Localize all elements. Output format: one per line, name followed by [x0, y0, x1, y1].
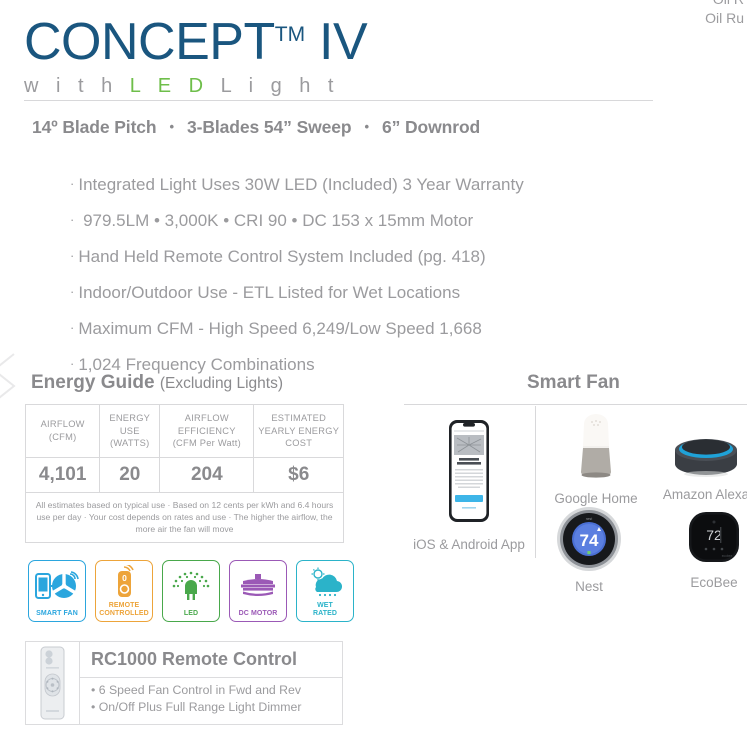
spec-text: Indoor/Outdoor Use - ETL Listed for Wet …	[78, 283, 460, 302]
dc-motor-icon	[230, 561, 286, 610]
nest-temperature: 74	[580, 531, 599, 550]
energy-guide-subtitle: (Excluding Lights)	[160, 375, 283, 392]
device-ecobee: 72 ecobee EcoBee	[679, 508, 747, 590]
ecobee-temperature: 72	[706, 527, 722, 543]
smart-fan-title: Smart Fan	[527, 372, 620, 394]
smart-fan-icon	[29, 561, 85, 610]
list-item: ·Maximum CFM - High Speed 6,249/Low Spee…	[70, 310, 710, 346]
device-caption: Nest	[552, 579, 626, 594]
value-yearly-cost: $6	[254, 457, 344, 492]
page-title: CONCEPTTM IV	[24, 6, 654, 71]
subtitle-pre: w i t h	[24, 75, 130, 97]
device-amazon-alexa: Amazon Alexa	[660, 432, 747, 502]
title-suffix: IV	[319, 13, 367, 71]
spec-text: Maximum CFM - High Speed 6,249/Low Speed…	[78, 319, 481, 338]
badge-led[interactable]: LED	[162, 560, 220, 622]
badge-label: DC MOTOR	[239, 610, 278, 618]
svg-text:nest: nest	[586, 517, 592, 521]
remote-info: RC1000 Remote Control • 6 Speed Fan Cont…	[80, 642, 342, 724]
badge-remote-controlled[interactable]: 0 REMOTE CONTROLLED	[95, 560, 153, 622]
badge-dc-motor[interactable]: DC MOTOR	[229, 560, 287, 622]
smartphone-app-icon	[440, 418, 498, 524]
table-note-row: All estimates based on typical use · Bas…	[26, 492, 344, 542]
spec-text: Hand Held Remote Control System Included…	[78, 247, 485, 266]
badge-smart-fan[interactable]: SMART FAN	[28, 560, 86, 622]
device-caption: EcoBee	[679, 575, 747, 590]
google-home-icon	[564, 412, 628, 484]
badge-wet-rated[interactable]: WET RATED	[296, 560, 354, 622]
badge-label: REMOTE CONTROLLED	[99, 602, 149, 618]
handheld-remote-icon	[37, 646, 68, 720]
spec-separator: •	[352, 119, 382, 134]
column-header-energy-use: ENERGY USE (WATTS)	[100, 405, 160, 458]
badge-label: SMART FAN	[36, 610, 78, 618]
energy-guide-table: AIRFLOW (CFM) ENERGY USE (WATTS) AIRFLOW…	[25, 404, 344, 543]
spec-sweep: 3-Blades 54” Sweep	[187, 117, 352, 137]
list-item: • On/Off Plus Full Range Light Dimmer	[91, 699, 342, 716]
table-row: 4,101 20 204 $6	[26, 457, 344, 492]
badge-label: WET RATED	[313, 602, 337, 618]
list-item: ·Hand Held Remote Control System Include…	[70, 238, 710, 274]
subtitle-post: L i g h t	[209, 75, 339, 97]
ecobee-thermostat-icon: 72 ecobee	[683, 508, 745, 568]
device-caption: Google Home	[548, 491, 644, 506]
column-header-airflow-efficiency: AIRFLOW EFFICIENCY (CFM Per Watt)	[160, 405, 254, 458]
smart-fan-divider	[404, 404, 747, 405]
finish-item: Oil R	[705, 0, 744, 9]
title-main: CONCEPT	[24, 13, 275, 71]
list-item: ·Indoor/Outdoor Use - ETL Listed for Wet…	[70, 274, 710, 310]
spec-bullet-list: ·Integrated Light Uses 30W LED (Included…	[30, 166, 710, 382]
device-google-home: Google Home	[548, 412, 644, 506]
energy-guide-heading: Energy Guide	[31, 372, 155, 393]
list-item: ·Integrated Light Uses 30W LED (Included…	[70, 166, 710, 202]
device-nest: 74 nest Nest	[552, 506, 626, 594]
table-header-row: AIRFLOW (CFM) ENERGY USE (WATTS) AIRFLOW…	[26, 405, 344, 458]
device-caption: Amazon Alexa	[660, 487, 747, 502]
remote-control-icon: 0	[96, 561, 152, 602]
feature-badge-row: SMART FAN 0 REMOTE CONTROLLED	[28, 560, 354, 622]
svg-text:0: 0	[122, 573, 127, 583]
spec-text: Integrated Light Uses 30W LED (Included)…	[78, 175, 523, 194]
column-header-airflow: AIRFLOW (CFM)	[26, 405, 100, 458]
chevron-left-icon	[0, 352, 22, 408]
app-column: iOS & Android App	[410, 418, 528, 552]
title-block: CONCEPTTM IV w i t h L E D L i g h t	[24, 6, 654, 98]
led-bulb-icon	[163, 561, 219, 610]
nest-thermostat-icon: 74 nest	[555, 506, 623, 572]
finish-item: Oil Ru	[705, 9, 744, 28]
energy-guide-title: Energy Guide (Excluding Lights)	[31, 372, 283, 394]
spec-downrod: 6” Downrod	[382, 117, 480, 137]
list-item: • 6 Speed Fan Control in Fwd and Rev	[91, 682, 342, 699]
value-energy-use: 20	[100, 457, 160, 492]
finish-list: Oil R Oil Ru	[705, 0, 744, 28]
spec-text: 979.5LM • 3,000K • CRI 90 • DC 153 x 15m…	[78, 211, 473, 230]
svg-text:ecobee: ecobee	[722, 554, 733, 558]
subtitle: w i t h L E D L i g h t	[24, 75, 654, 98]
subtitle-led: L E D	[130, 75, 209, 97]
smart-fan-vertical-divider	[535, 406, 536, 558]
badge-label: LED	[184, 610, 198, 618]
spec-blade-pitch: 14º Blade Pitch	[32, 117, 157, 137]
remote-feature-list: • 6 Speed Fan Control in Fwd and Rev • O…	[80, 678, 342, 724]
remote-title: RC1000 Remote Control	[80, 642, 342, 678]
spec-headline: 14º Blade Pitch•3-Blades 54” Sweep•6” Do…	[32, 117, 480, 138]
amazon-echo-dot-icon	[669, 432, 743, 480]
spec-separator: •	[157, 119, 187, 134]
value-airflow: 4,101	[26, 457, 100, 492]
remote-photo	[26, 642, 80, 724]
energy-guide-note: All estimates based on typical use · Bas…	[26, 492, 344, 542]
title-divider	[24, 100, 653, 101]
list-item: · 979.5LM • 3,000K • CRI 90 • DC 153 x 1…	[70, 202, 710, 238]
value-airflow-efficiency: 204	[160, 457, 254, 492]
remote-control-box: RC1000 Remote Control • 6 Speed Fan Cont…	[25, 641, 343, 725]
app-caption: iOS & Android App	[410, 537, 528, 552]
wet-rated-icon	[297, 561, 353, 602]
column-header-yearly-cost: ESTIMATED YEARLY ENERGY COST	[254, 405, 344, 458]
trademark-symbol: TM	[275, 23, 305, 46]
